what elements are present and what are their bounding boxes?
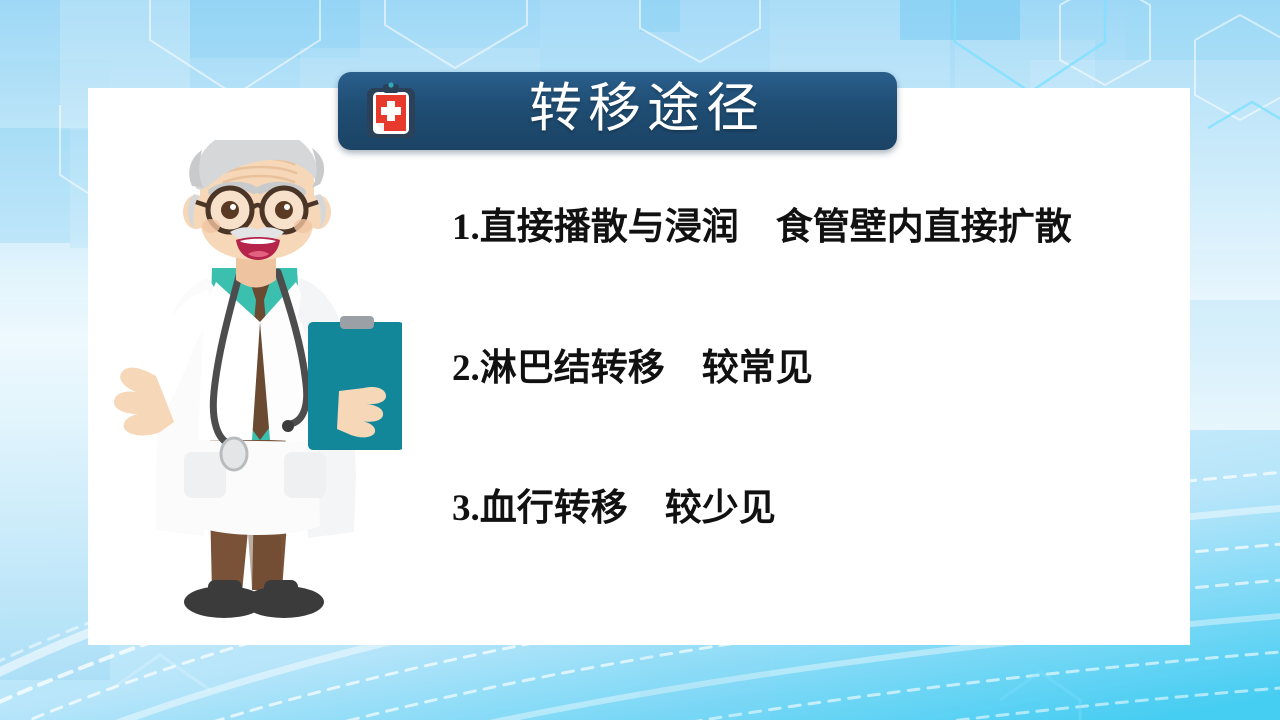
page-title: 转移途径 xyxy=(417,83,897,140)
list-item: 3.血行转移 较少见 xyxy=(452,487,1152,531)
cheek-left xyxy=(202,219,220,233)
cheek-right xyxy=(294,219,312,233)
eye-right xyxy=(275,201,293,219)
title-banner: 转移途径 xyxy=(338,72,897,150)
slide-canvas: 转移途径 1.直接播散与浸润 食管壁内直接扩散 2.淋巴结转移 较常见 3.血行… xyxy=(0,0,1280,720)
medical-clipboard-icon xyxy=(365,82,417,140)
eye-right-highlight xyxy=(284,204,290,210)
eye-left xyxy=(221,201,239,219)
shoe-left-top xyxy=(208,580,242,602)
bullet-list: 1.直接播散与浸润 食管壁内直接扩散 2.淋巴结转移 较常见 3.血行转移 较少… xyxy=(452,206,1152,531)
coat-pocket-right xyxy=(284,452,326,498)
stethoscope-chestpiece xyxy=(221,438,247,470)
doctor-illustration-svg xyxy=(112,140,402,640)
eye-left-highlight xyxy=(230,204,236,210)
coat-pocket-left xyxy=(184,452,226,498)
doctor-illustration xyxy=(112,140,402,640)
stethoscope-earpiece xyxy=(282,420,294,432)
list-item: 1.直接播散与浸润 食管壁内直接扩散 xyxy=(452,206,1152,250)
held-clipboard-clip xyxy=(340,316,374,329)
list-item: 2.淋巴结转移 较常见 xyxy=(452,347,1152,391)
shoe-right-top xyxy=(264,580,298,602)
medical-clipboard-icon-svg xyxy=(365,82,417,140)
